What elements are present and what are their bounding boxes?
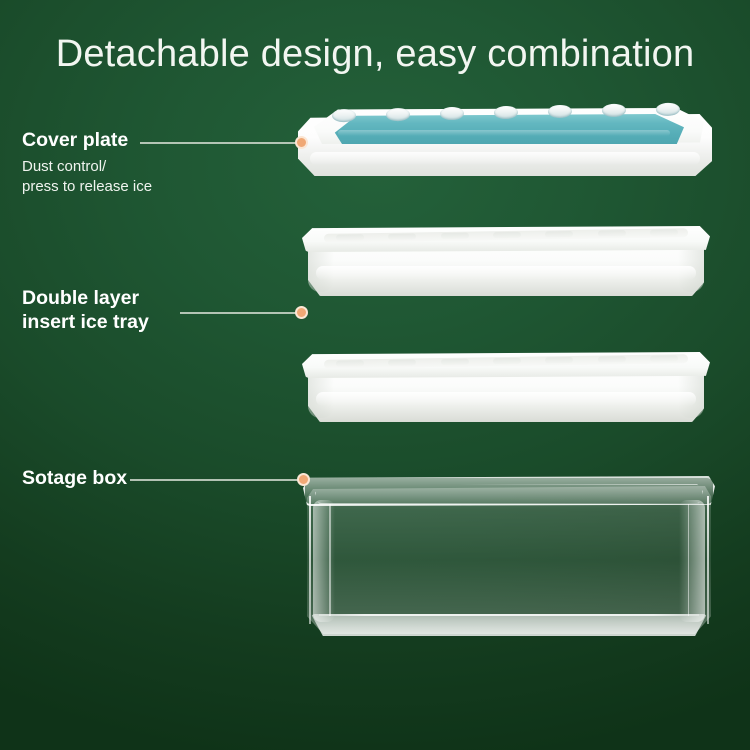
callout-cover-plate-headline: Cover plate (22, 128, 152, 152)
connector-dot-cover-plate (295, 136, 308, 149)
storage-box-right-edge (707, 496, 709, 624)
product-storage-box (303, 470, 715, 638)
storage-box-inner-rim (315, 484, 703, 504)
storage-box-base (311, 614, 707, 636)
leader-line-ice-tray (180, 312, 300, 314)
callout-cover-plate: Cover plate Dust control/ press to relea… (22, 128, 152, 196)
product-cover-plate (298, 100, 712, 182)
callout-storage-box: Sotage box (22, 466, 127, 490)
callout-ice-tray: Double layer insert ice tray (22, 286, 149, 334)
ice-tray-highlight (316, 266, 696, 280)
storage-box-body (307, 486, 711, 634)
ice-tray-highlight (316, 392, 696, 406)
product-ice-tray-lower (302, 348, 710, 424)
page-title: Detachable design, easy combination (0, 33, 750, 76)
callout-storage-box-headline: Sotage box (22, 466, 127, 490)
storage-box-inner-right-post (688, 504, 690, 616)
callout-ice-tray-headline-line-1: Double layer (22, 286, 149, 310)
storage-box-right-highlight (679, 500, 705, 622)
product-infographic: Detachable design, easy combination (0, 0, 750, 750)
connector-dot-ice-tray (295, 306, 308, 319)
product-ice-tray-upper (302, 222, 710, 298)
storage-box-left-highlight (313, 500, 335, 622)
callout-cover-plate-sub-line-2: press to release ice (22, 177, 152, 196)
callout-ice-tray-headline-line-2: insert ice tray (22, 310, 149, 334)
cover-plate-highlight (310, 152, 700, 165)
leader-line-storage-box (130, 479, 302, 481)
connector-dot-storage-box (297, 473, 310, 486)
storage-box-inner-left-post (329, 504, 331, 616)
leader-line-cover-plate (140, 142, 300, 144)
callout-cover-plate-sub-line-1: Dust control/ (22, 157, 152, 176)
storage-box-left-edge (309, 496, 311, 624)
